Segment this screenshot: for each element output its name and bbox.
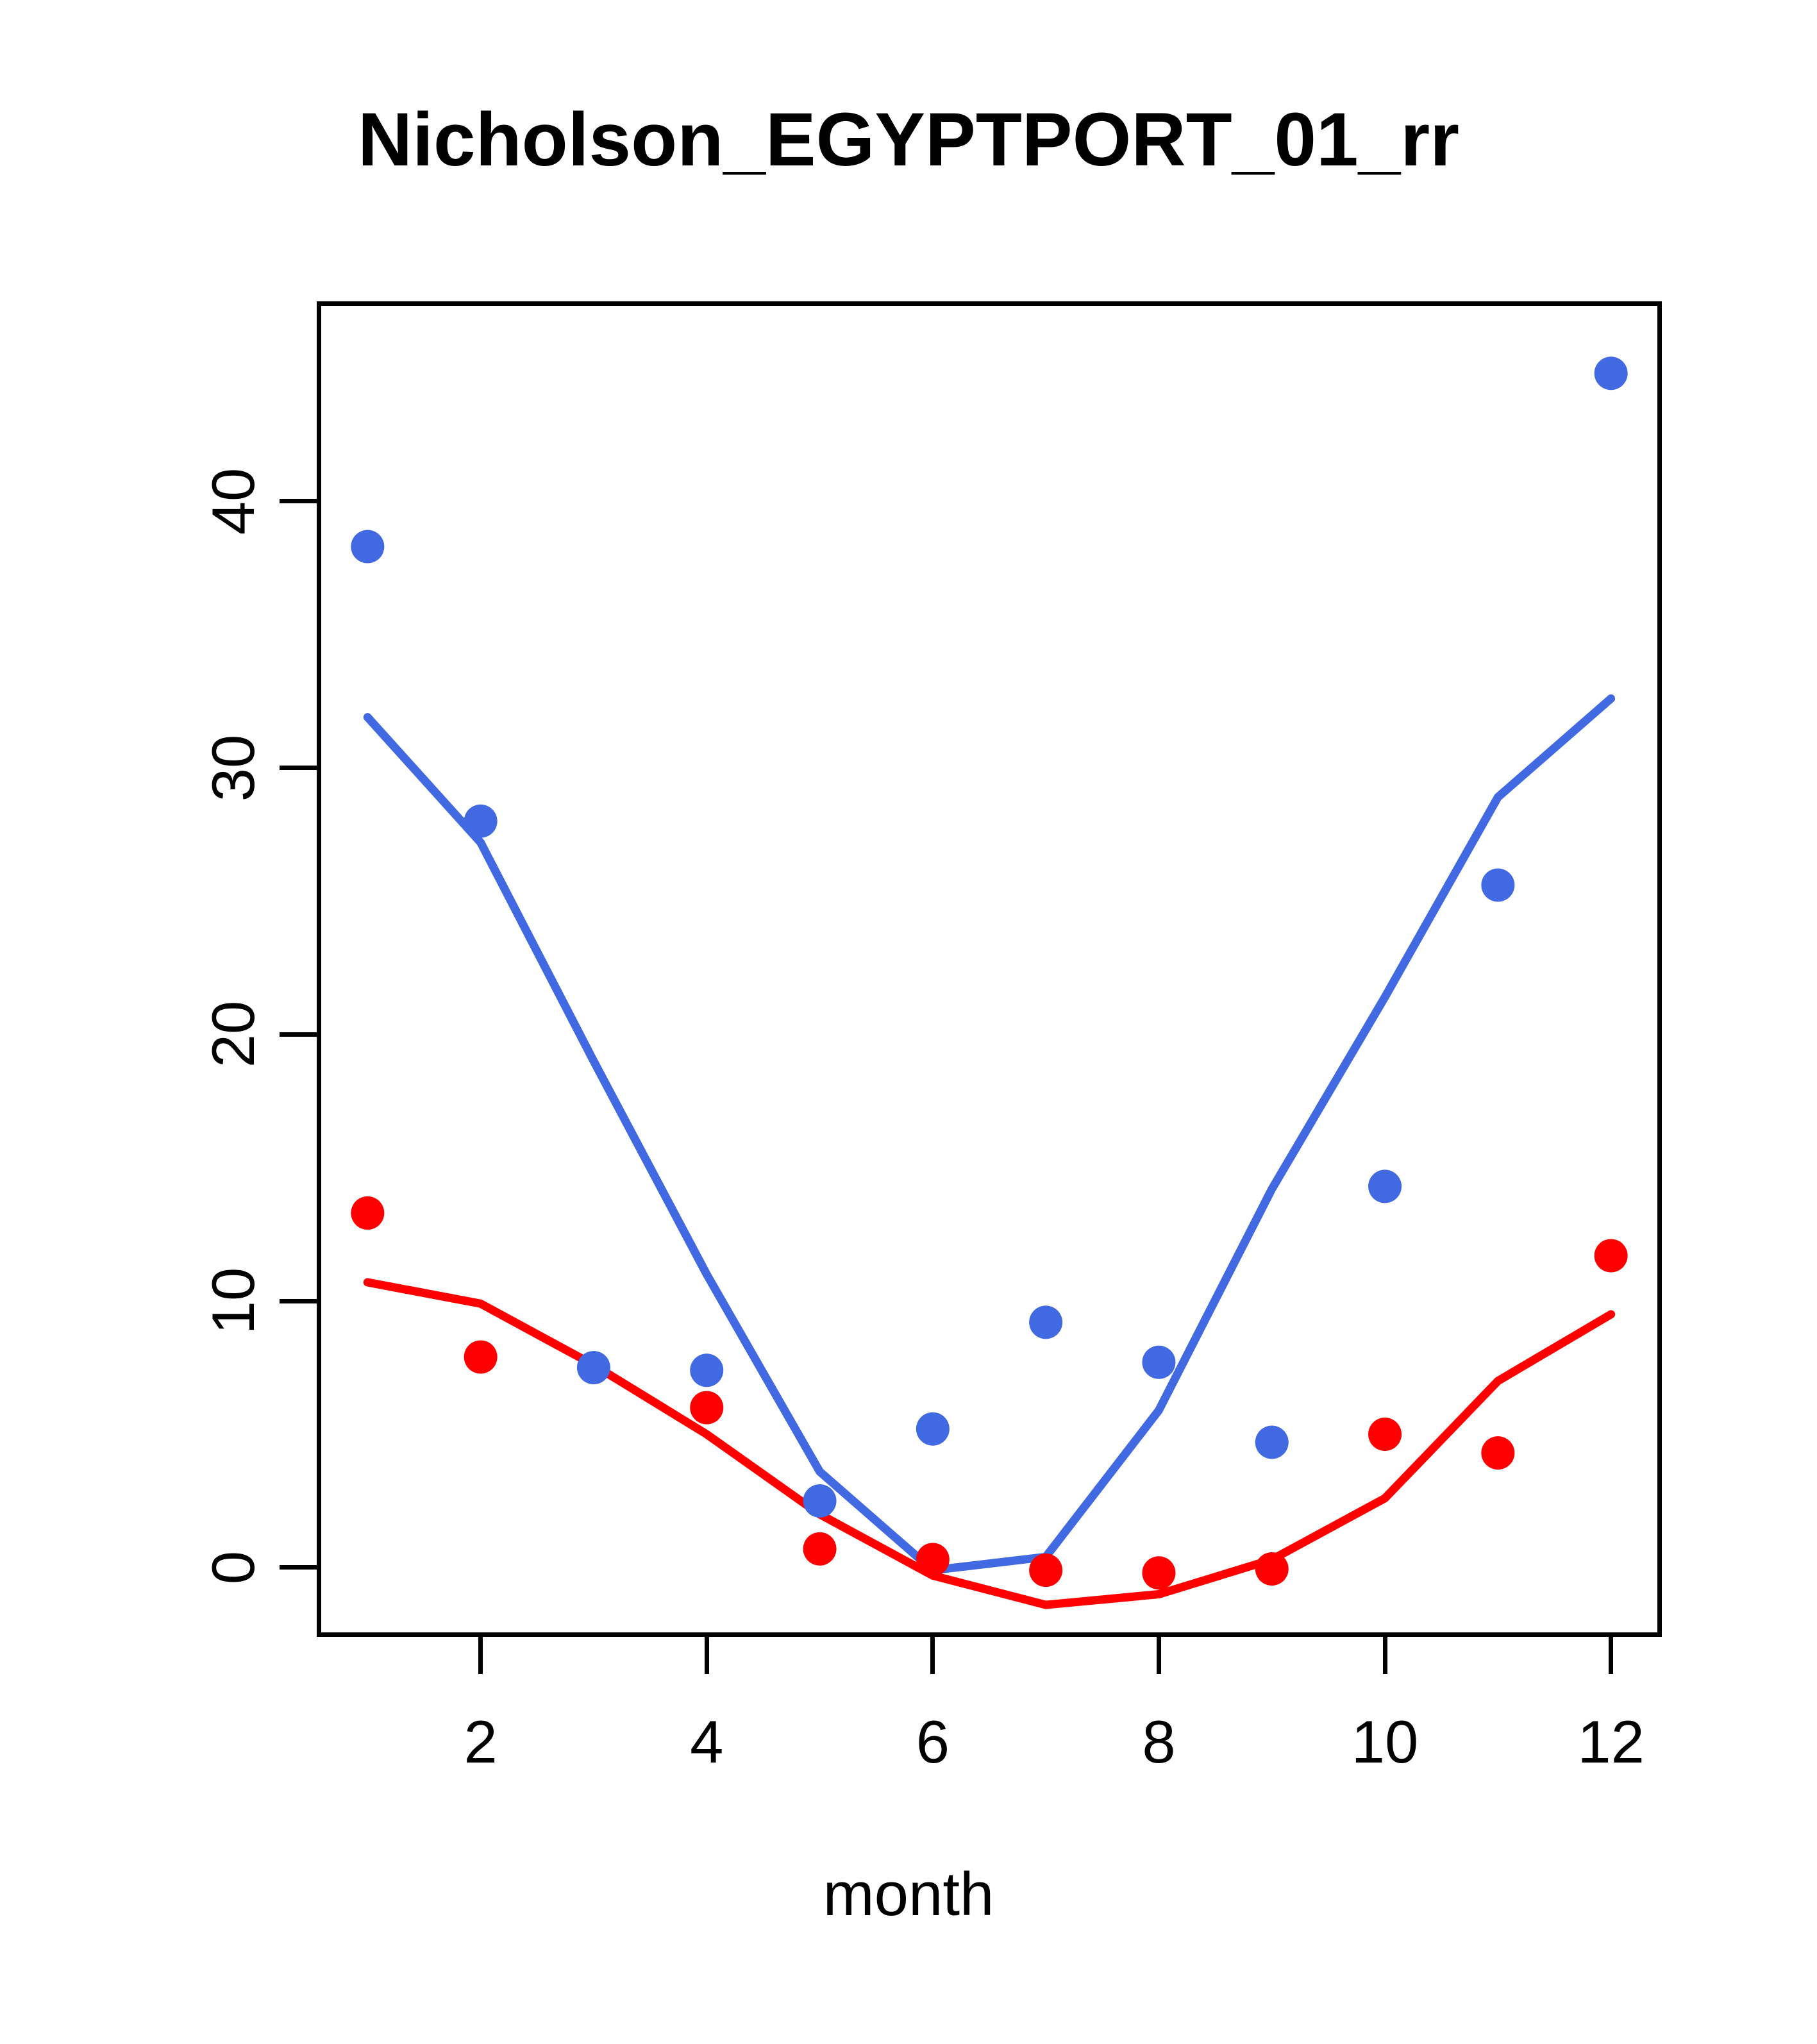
plot-frame [317, 301, 1662, 1637]
x-tick-label: 2 [464, 1707, 497, 1777]
x-tick-label: 12 [1577, 1707, 1645, 1777]
chart-page: Nicholson_EGYPTPORT_01_rr 010203040 2468… [0, 0, 1817, 2044]
y-tick-label: 10 [199, 1268, 268, 1335]
page-title: Nicholson_EGYPTPORT_01_rr [0, 96, 1817, 183]
y-tick-label: 40 [199, 468, 268, 535]
x-tick-mark [1383, 1637, 1387, 1674]
x-tick-label: 6 [916, 1707, 950, 1777]
y-tick-mark [280, 499, 317, 503]
x-tick-mark [930, 1637, 935, 1674]
x-tick-mark [705, 1637, 709, 1674]
y-tick-mark [280, 766, 317, 770]
x-tick-mark [1609, 1637, 1613, 1674]
x-tick-mark [1157, 1637, 1161, 1674]
y-tick-mark [280, 1032, 317, 1037]
y-tick-mark [280, 1299, 317, 1303]
x-tick-label: 10 [1352, 1707, 1419, 1777]
y-tick-label: 20 [199, 1001, 268, 1068]
x-axis-title: month [0, 1859, 1817, 1930]
plot-area [317, 301, 1662, 1637]
y-tick-label: 0 [199, 1551, 268, 1584]
x-tick-mark [478, 1637, 483, 1674]
x-tick-label: 4 [690, 1707, 723, 1777]
x-tick-label: 8 [1142, 1707, 1175, 1777]
y-tick-mark [280, 1565, 317, 1570]
y-tick-label: 30 [199, 734, 268, 801]
